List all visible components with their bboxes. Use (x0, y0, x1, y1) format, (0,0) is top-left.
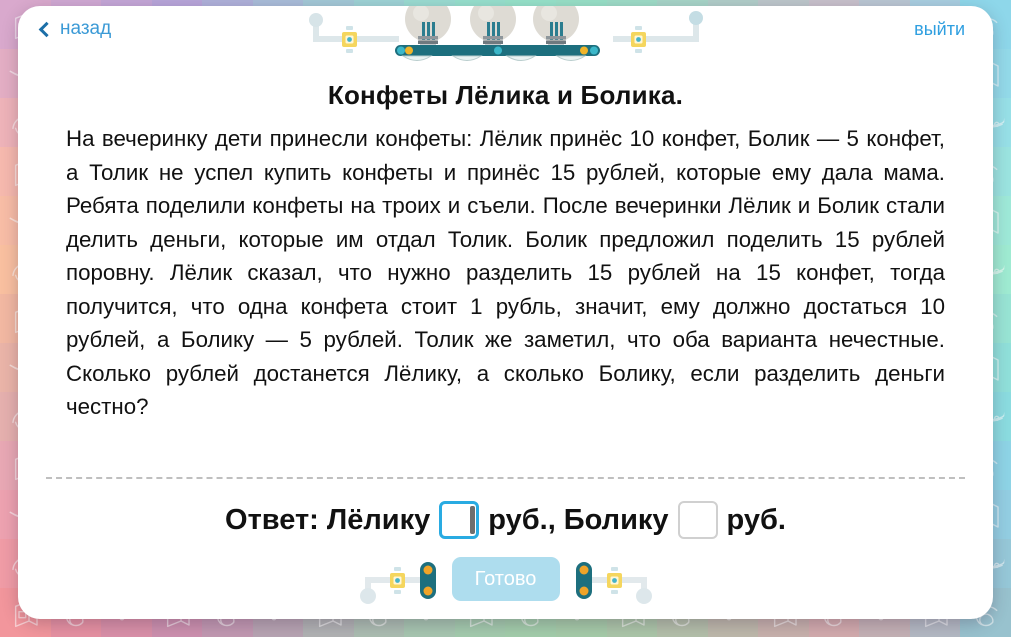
circuit-connector-right-icon (560, 554, 660, 604)
task-card: назад выйти (18, 6, 993, 619)
exit-button[interactable]: выйти (914, 19, 965, 40)
answer-middle-label: руб., Болику (488, 504, 668, 537)
lightbulb-circuit-icon (291, 6, 721, 62)
done-button[interactable]: Готово (452, 557, 560, 601)
circuit-connector-left-icon (352, 554, 452, 604)
answer-row: Ответ: Лёлику руб., Болику руб. (18, 501, 993, 539)
chevron-left-icon (39, 22, 55, 38)
back-button-label: назад (60, 18, 111, 40)
answer-input-bolik[interactable] (678, 501, 718, 539)
footer-actions: Готово (18, 554, 993, 604)
answer-prefix-label: Ответ: Лёлику (225, 504, 430, 537)
lightbulb-circuit-decoration (291, 6, 721, 62)
answer-input-lelik[interactable] (439, 501, 479, 539)
task-text: На вечеринку дети принесли конфеты: Лёли… (66, 122, 945, 424)
task-paragraph: На вечеринку дети принесли конфеты: Лёли… (66, 122, 945, 424)
page-root: назад выйти (0, 0, 1011, 637)
divider (46, 477, 965, 479)
answer-suffix-label: руб. (727, 504, 786, 537)
back-button[interactable]: назад (41, 18, 111, 40)
page-title: Конфеты Лёлика и Болика. (18, 80, 993, 111)
